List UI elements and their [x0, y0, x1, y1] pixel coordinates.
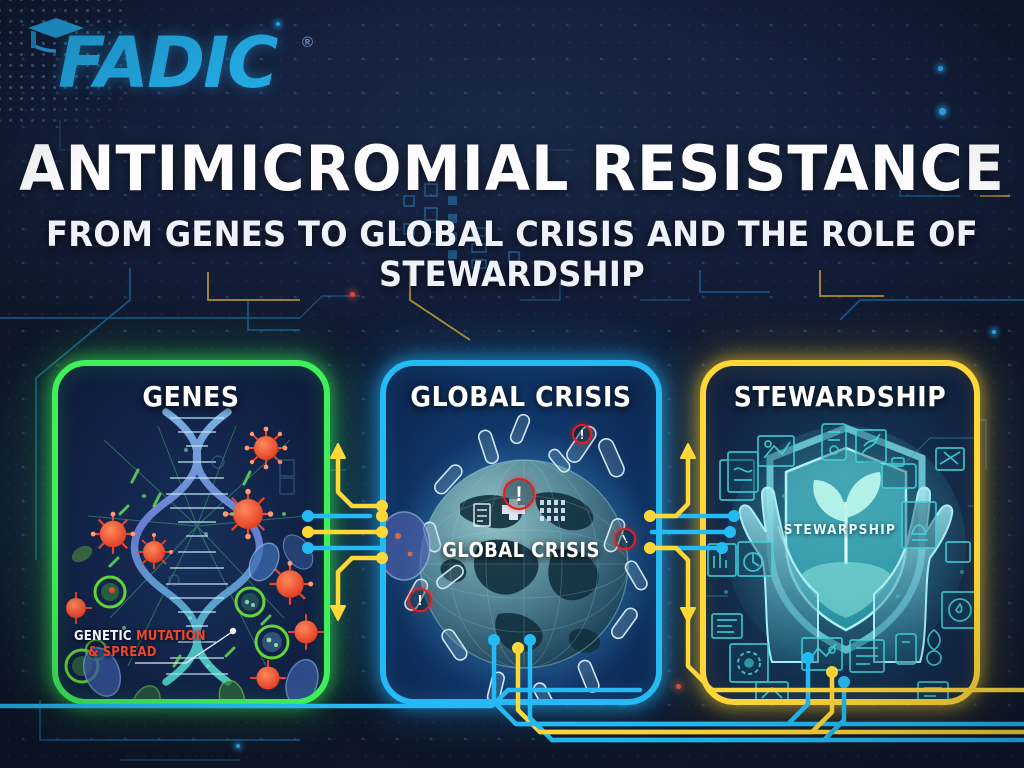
warning-badge-2: ! — [503, 478, 535, 510]
shield-label: STEWARPSHIP — [706, 522, 974, 538]
warning-badge-3: ! — [408, 588, 432, 612]
genes-callout-white: GENETIC — [74, 629, 132, 644]
genes-callout-line2: & SPREAD — [74, 645, 206, 661]
panel-genes-title: GENES — [58, 380, 324, 413]
panel-steward-title: STEWARDSHIP — [706, 380, 974, 413]
infographic-canvas: FADIC ® ANTIMICROMIAL RESISTANCE FROM GE… — [0, 0, 1024, 768]
genes-callout-line1: GENETIC MUTATION — [74, 629, 206, 645]
panel-crisis-title: GLOBAL CRISIS — [386, 380, 656, 413]
warning-badge-1: ! — [572, 424, 592, 444]
genes-callout-red: MUTATION — [136, 629, 206, 644]
warning-badge-4: ! — [614, 528, 636, 550]
genes-callout: GENETIC MUTATION & SPREAD — [74, 629, 206, 662]
